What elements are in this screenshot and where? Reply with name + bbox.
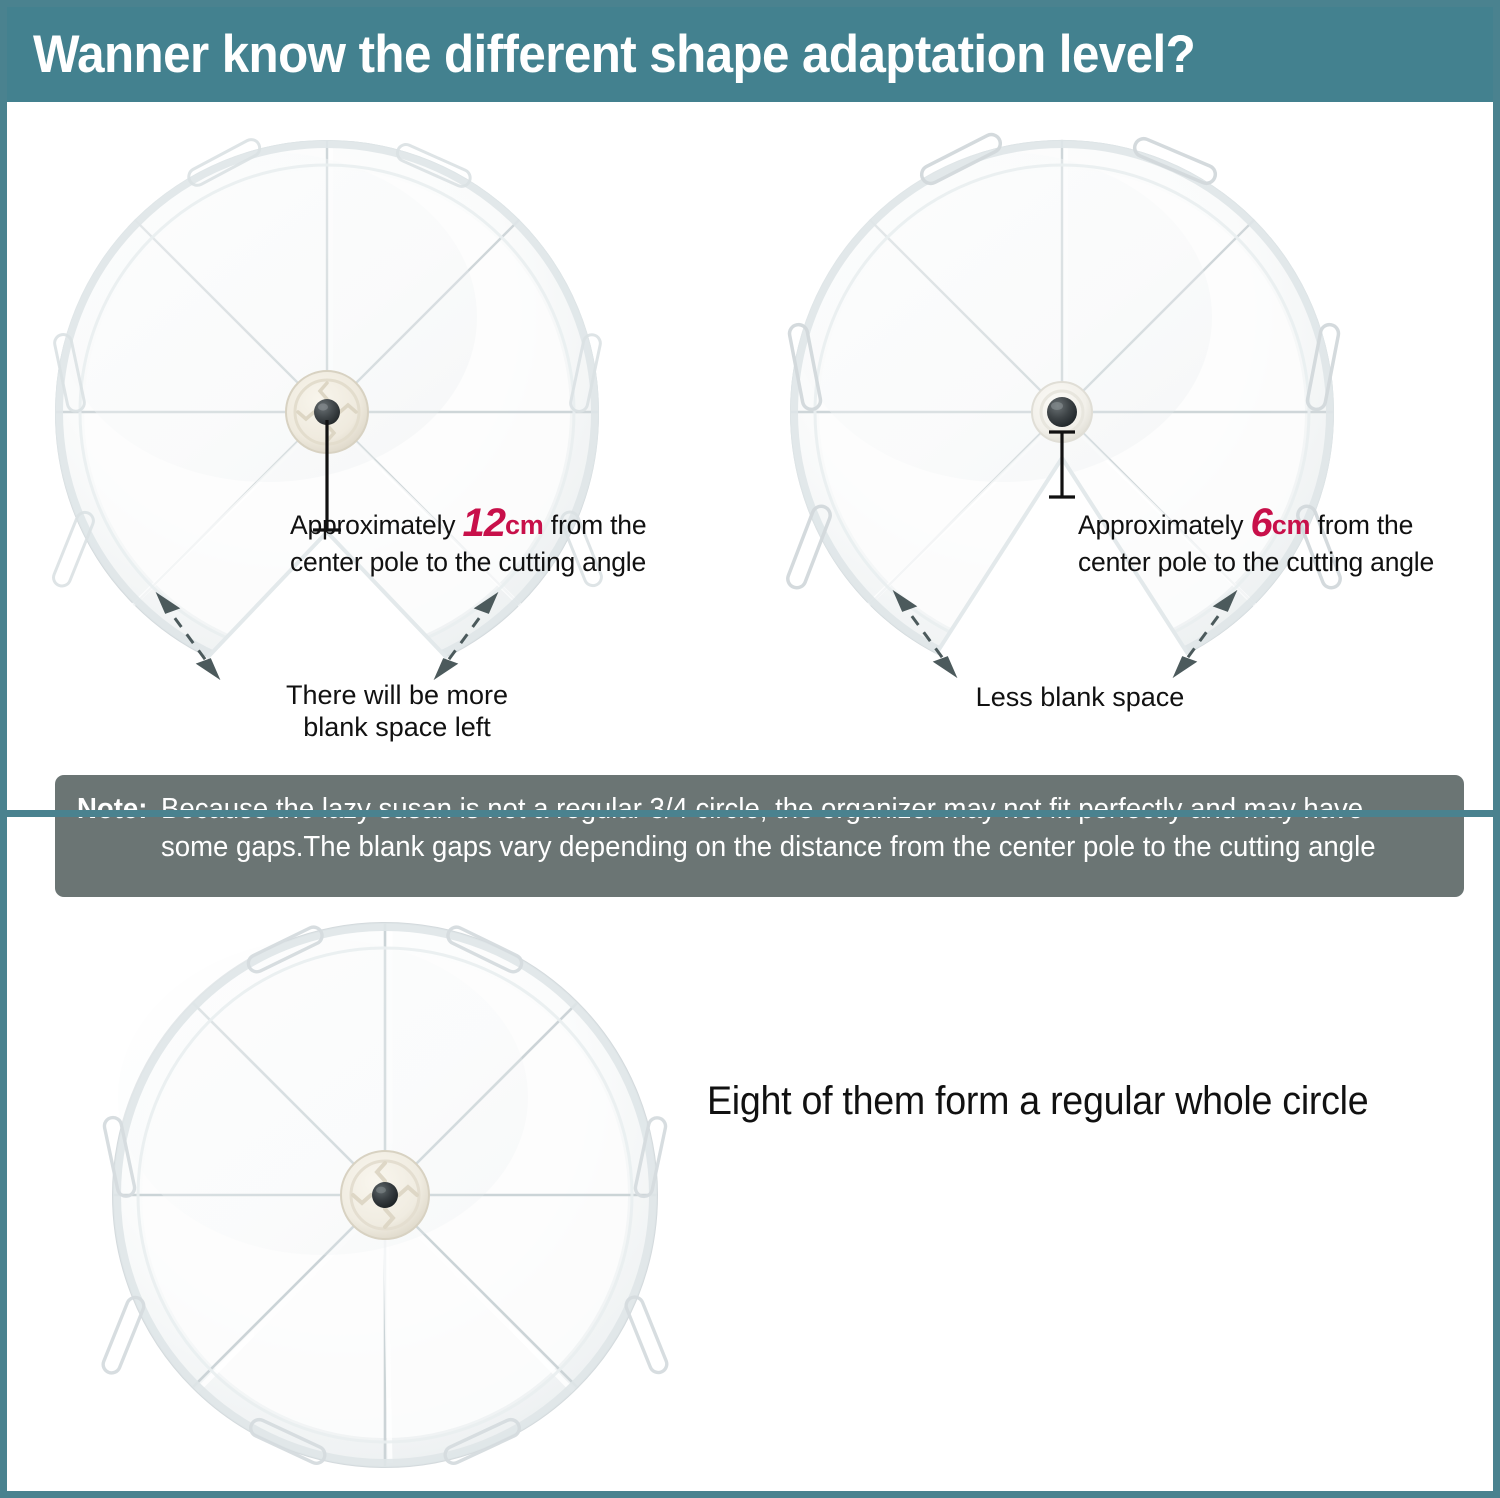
product-illustration-12cm bbox=[17, 102, 717, 722]
measure-value: 12 bbox=[462, 501, 505, 545]
measure-suffix: from the bbox=[551, 510, 647, 540]
panel-12cm: Approximately 12cm from the center pole … bbox=[17, 102, 750, 752]
gap-caption-6cm: Less blank space bbox=[870, 682, 1290, 714]
center-post bbox=[1047, 397, 1077, 427]
whole-circle-caption: Eight of them form a regular whole circl… bbox=[707, 1079, 1368, 1124]
page-title: Wanner know the different shape adaptati… bbox=[33, 24, 1195, 85]
gap-caption-line1: Less blank space bbox=[976, 682, 1185, 712]
measure-line2: center pole to the cutting angle bbox=[290, 547, 646, 578]
lazy-susan-notched-12cm-svg bbox=[17, 102, 717, 722]
product-illustration-6cm bbox=[742, 102, 1442, 722]
panel-whole-circle: Eight of them form a regular whole circl… bbox=[17, 817, 1493, 1497]
measure-suffix: from the bbox=[1318, 510, 1414, 540]
measure-prefix: Approximately bbox=[1078, 510, 1243, 540]
gap-caption-line2: blank space left bbox=[303, 712, 491, 742]
measure-unit: cm bbox=[1272, 510, 1311, 540]
gap-caption-12cm: There will be more blank space left bbox=[257, 680, 537, 744]
header-banner: Wanner know the different shape adaptati… bbox=[7, 7, 1493, 102]
center-hub bbox=[341, 1151, 429, 1239]
lazy-susan-full-circle-svg bbox=[85, 905, 685, 1485]
measure-line2: center pole to the cutting angle bbox=[1078, 547, 1434, 578]
measure-prefix: Approximately bbox=[290, 510, 455, 540]
panel-6cm: Approximately 6cm from the center pole t… bbox=[750, 102, 1493, 752]
infographic-page: Wanner know the different shape adaptati… bbox=[0, 0, 1500, 1498]
measurement-caption-12cm: Approximately 12cm from the center pole … bbox=[290, 500, 646, 578]
gap-caption-line1: There will be more bbox=[286, 680, 508, 710]
lazy-susan-notched-6cm-svg bbox=[742, 102, 1442, 722]
measurement-caption-6cm: Approximately 6cm from the center pole t… bbox=[1078, 500, 1434, 578]
product-illustration-whole-circle bbox=[85, 905, 685, 1485]
section-divider bbox=[7, 810, 1493, 817]
measure-value: 6 bbox=[1250, 501, 1271, 545]
center-post bbox=[372, 1182, 398, 1208]
measure-unit: cm bbox=[505, 510, 544, 540]
